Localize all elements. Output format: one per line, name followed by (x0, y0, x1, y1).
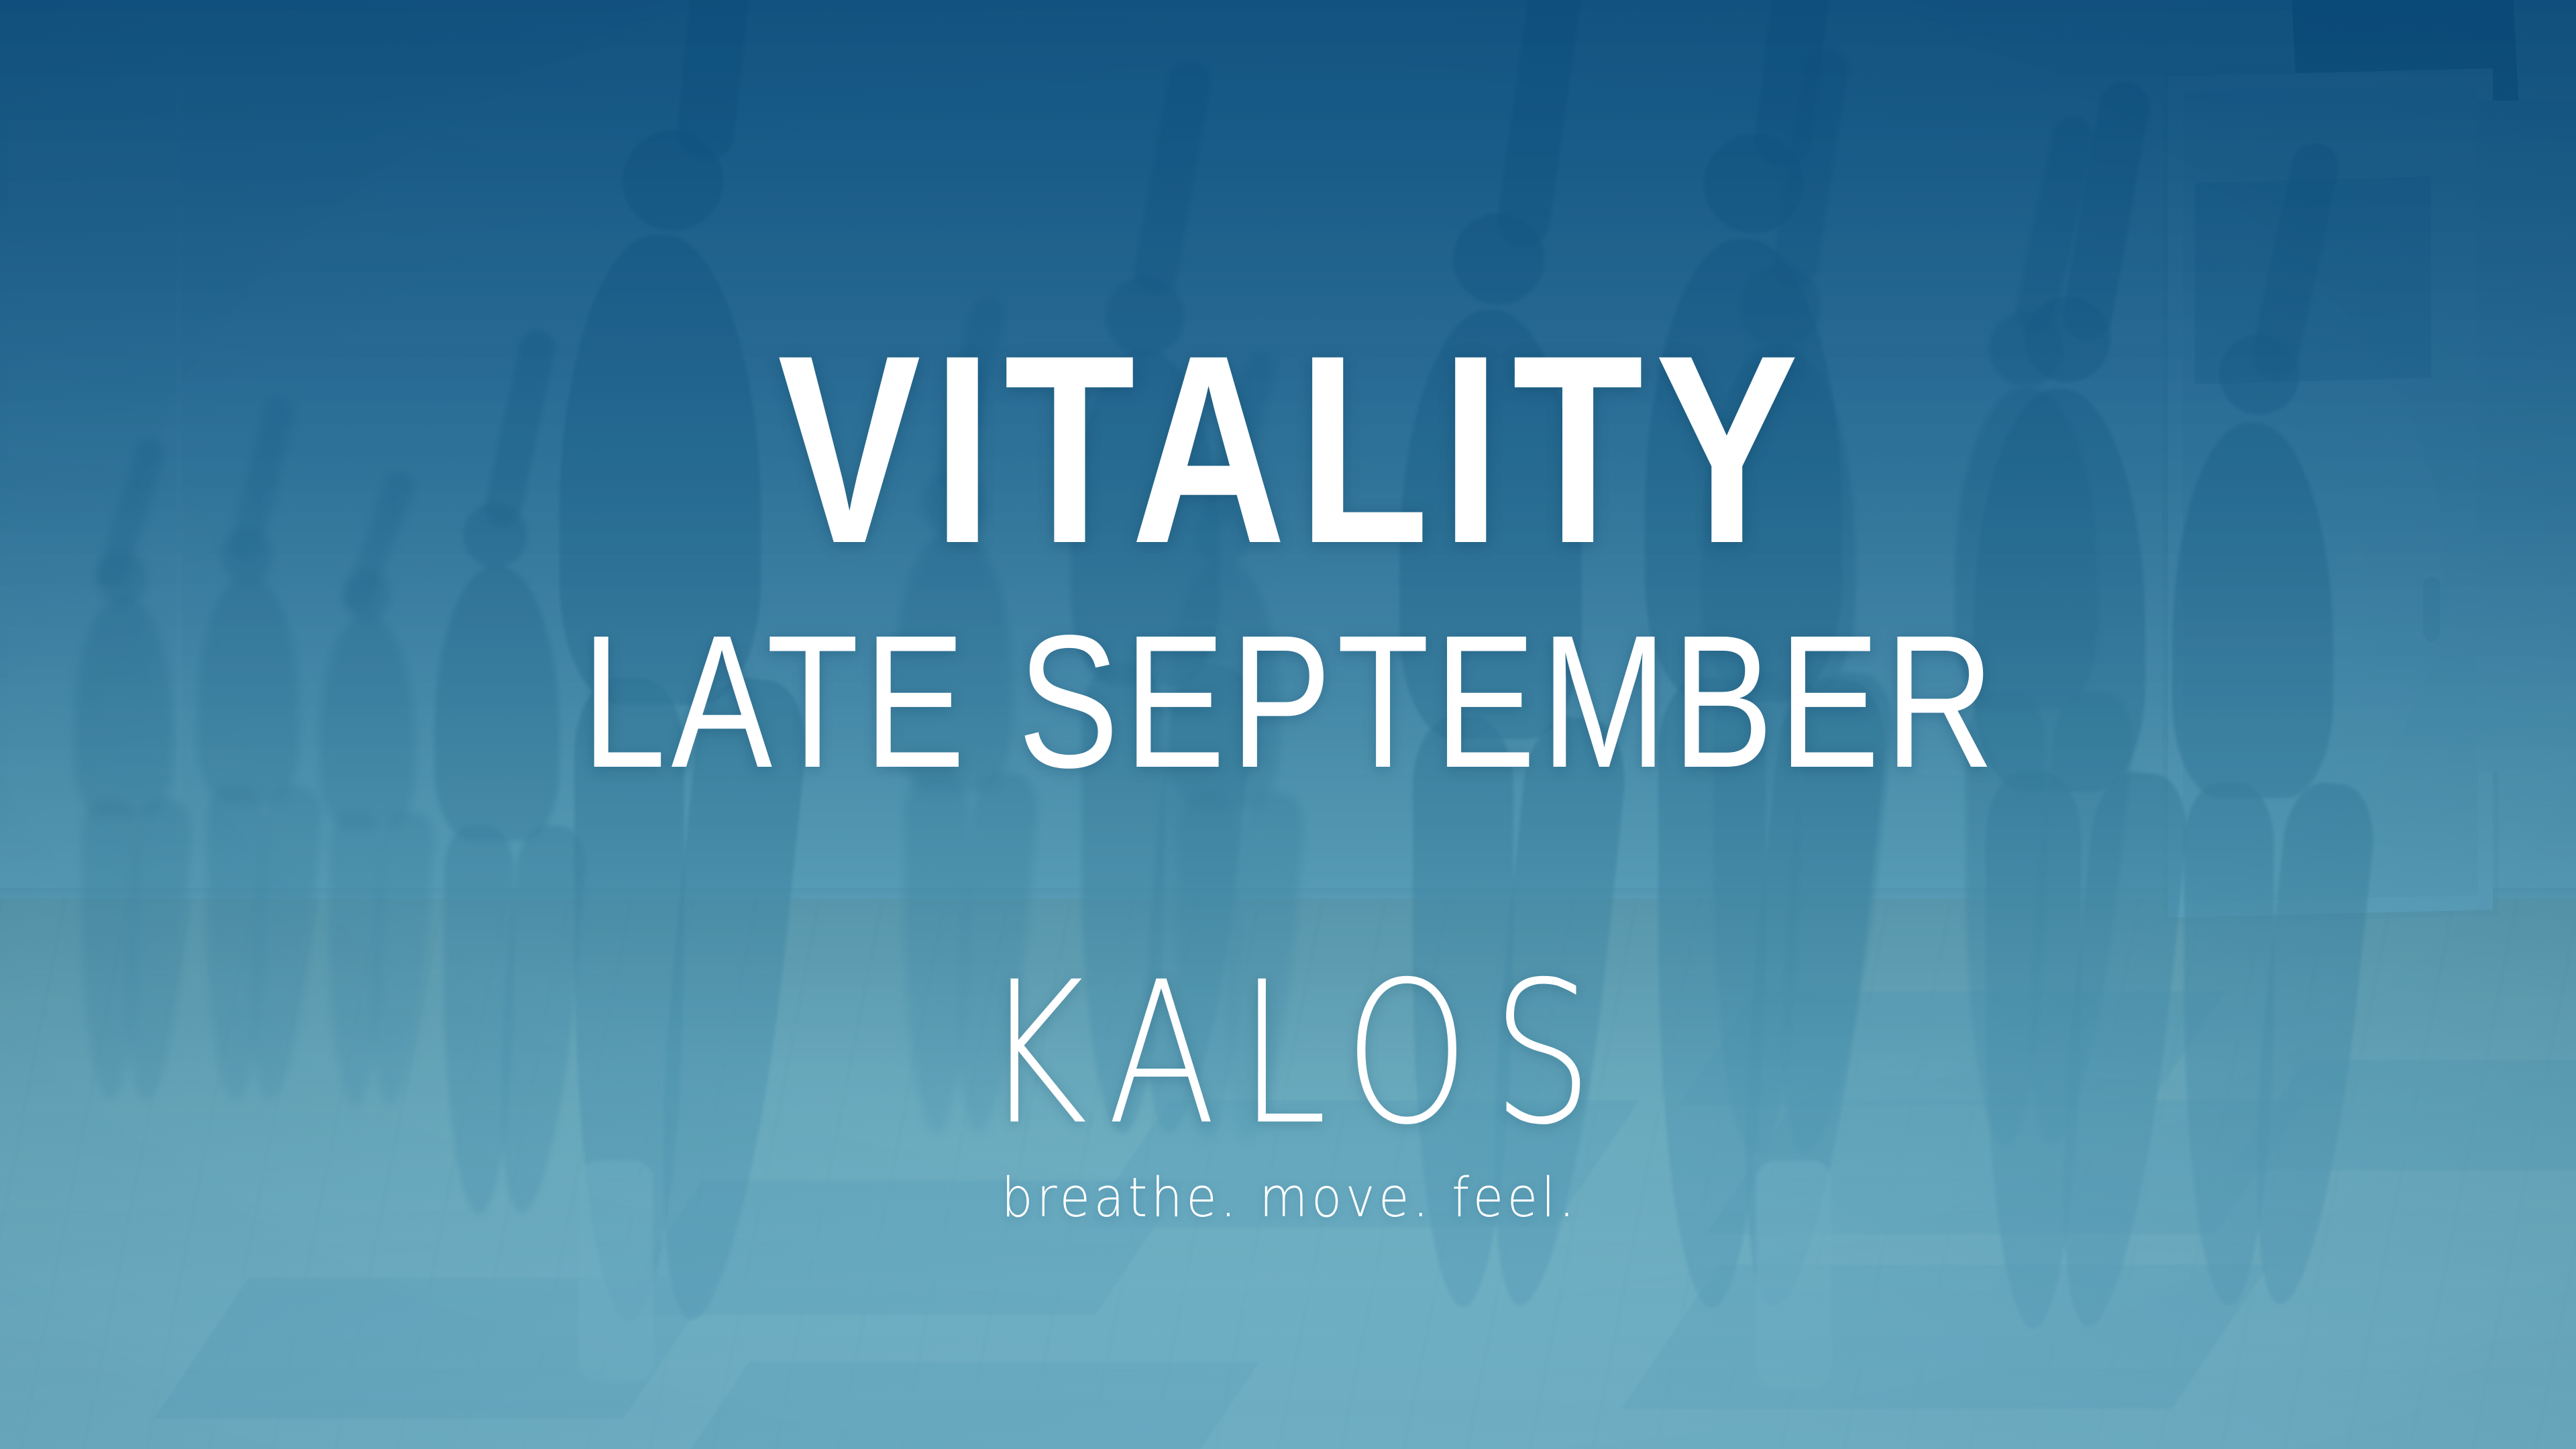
text-layer: VITALITY LATE SEPTEMBER KALOS breathe. m… (0, 0, 2576, 1449)
brand-wordmark: KALOS (77, 938, 2499, 1171)
page-title: VITALITY (258, 315, 2318, 584)
promo-poster: VITALITY LATE SEPTEMBER KALOS breathe. m… (0, 0, 2576, 1449)
event-date-subtitle: LATE SEPTEMBER (258, 607, 2318, 796)
brand-tagline: breathe. move. feel. (0, 1166, 2576, 1230)
